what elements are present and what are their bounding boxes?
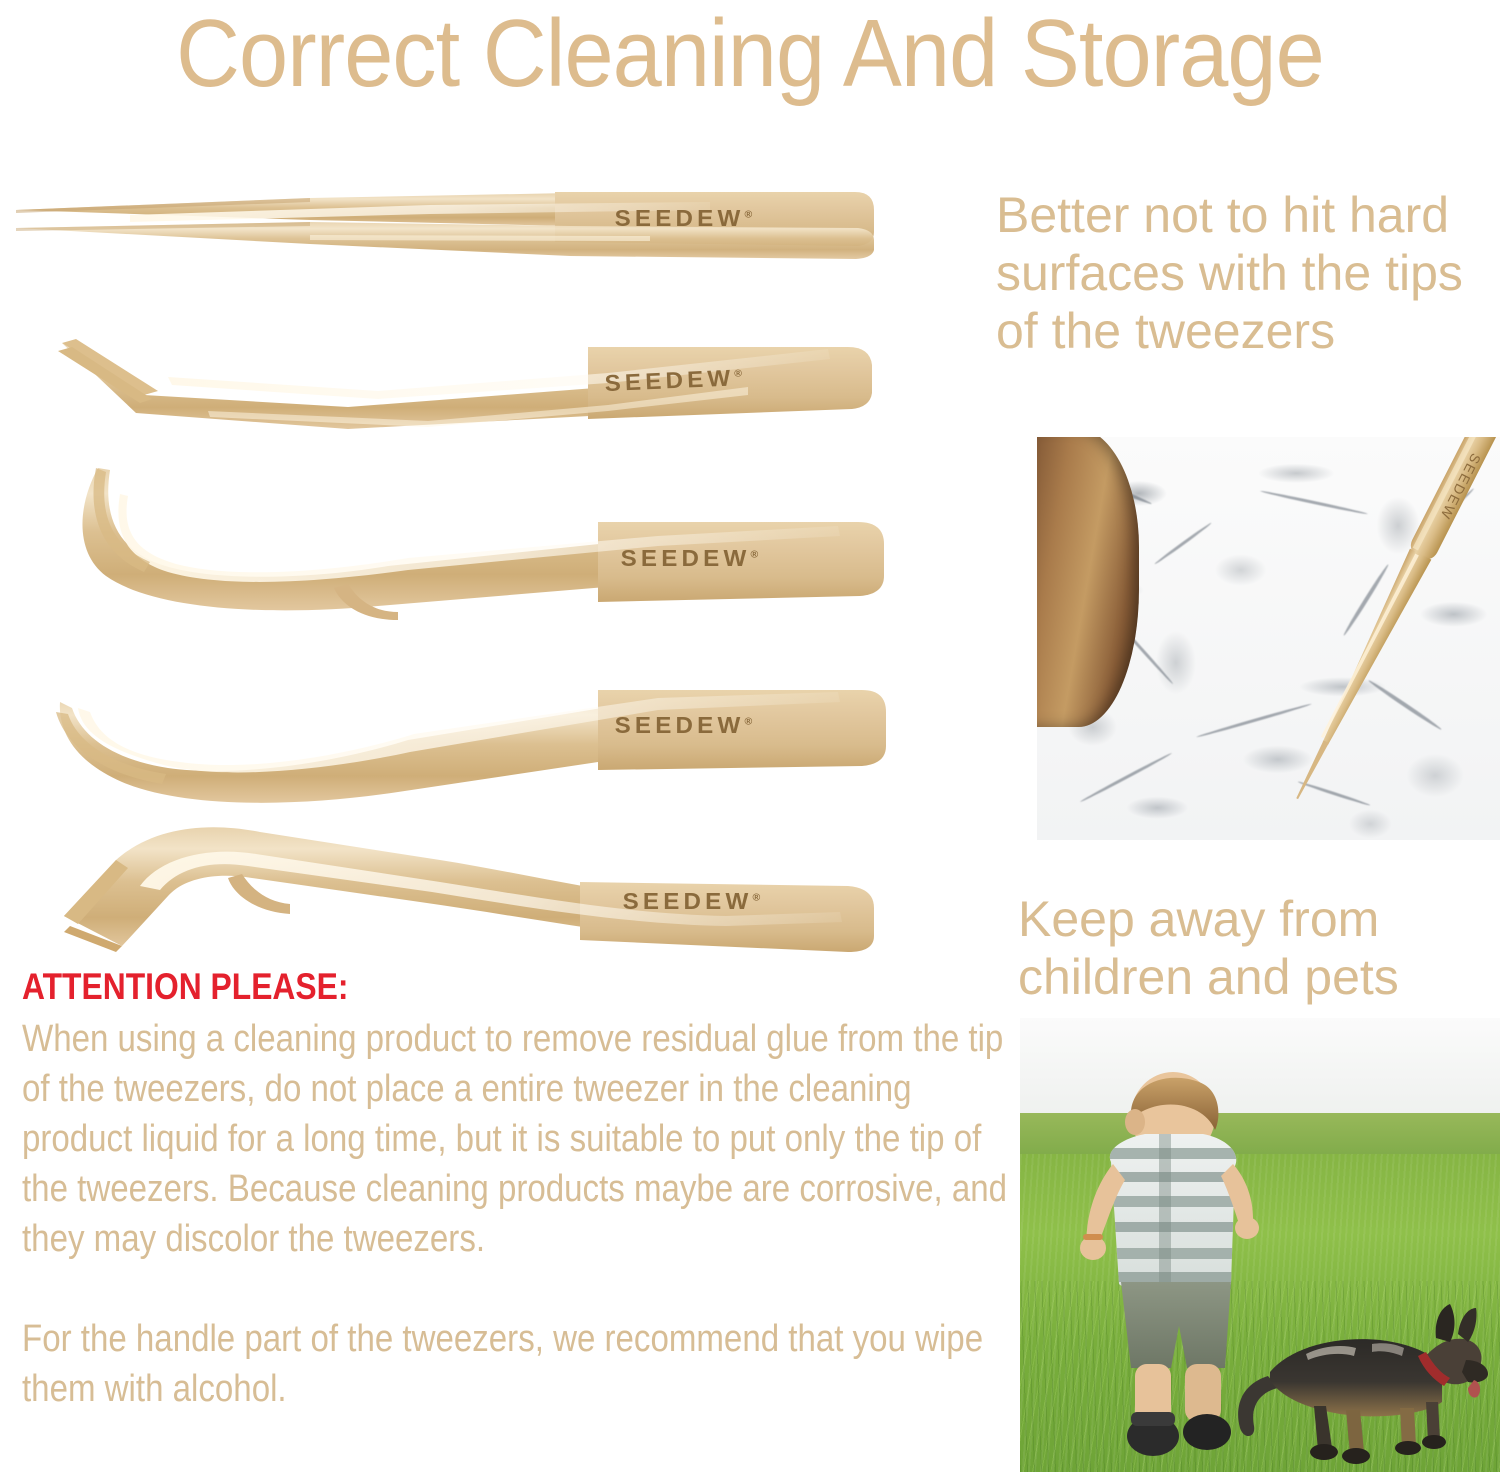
photo-tweezer-on-marble: SEEDEW xyxy=(1037,437,1500,840)
tip-hard-surface-text: Better not to hit hard surfaces with the… xyxy=(996,186,1496,360)
product-curved-volume-tweezer: SEEDEW® xyxy=(38,660,918,820)
product-j-curve-tweezer: SEEDEW® xyxy=(58,460,918,635)
attention-block: ATTENTION PLEASE: When using a cleaning … xyxy=(22,968,1012,1414)
attention-heading: ATTENTION PLEASE: xyxy=(22,968,873,1005)
german-shepherd-dog xyxy=(1230,1280,1490,1470)
brand-logo: SEEDEW® xyxy=(615,712,757,739)
tip-children-pets-text: Keep away from children and pets xyxy=(1018,890,1498,1006)
page-title: Correct Cleaning And Storage xyxy=(60,2,1440,106)
brand-logo: SEEDEW® xyxy=(623,888,765,915)
attention-body: When using a cleaning product to remove … xyxy=(22,1014,1009,1414)
product-angled-45-tweezer: SEEDEW® xyxy=(48,325,908,435)
paragraph-spacer xyxy=(22,1264,1009,1314)
tweezer-product-group: SEEDEW® SEEDEW® SEED xyxy=(0,160,1000,970)
brand-logo: SEEDEW® xyxy=(621,545,763,572)
product-boot-shaped-tweezer: SEEDEW® xyxy=(20,820,900,960)
photo-child-and-dog xyxy=(1020,1018,1500,1472)
attention-paragraph-2: For the handle part of the tweezers, we … xyxy=(22,1314,1009,1414)
attention-paragraph-1: When using a cleaning product to remove … xyxy=(22,1014,1009,1264)
product-straight-point-tweezer: SEEDEW® xyxy=(10,180,890,270)
brand-logo: SEEDEW® xyxy=(615,205,757,232)
gold-tweezer-photo-object: SEEDEW xyxy=(1237,437,1500,829)
infographic-page: Correct Cleaning And Storage xyxy=(0,0,1500,1472)
